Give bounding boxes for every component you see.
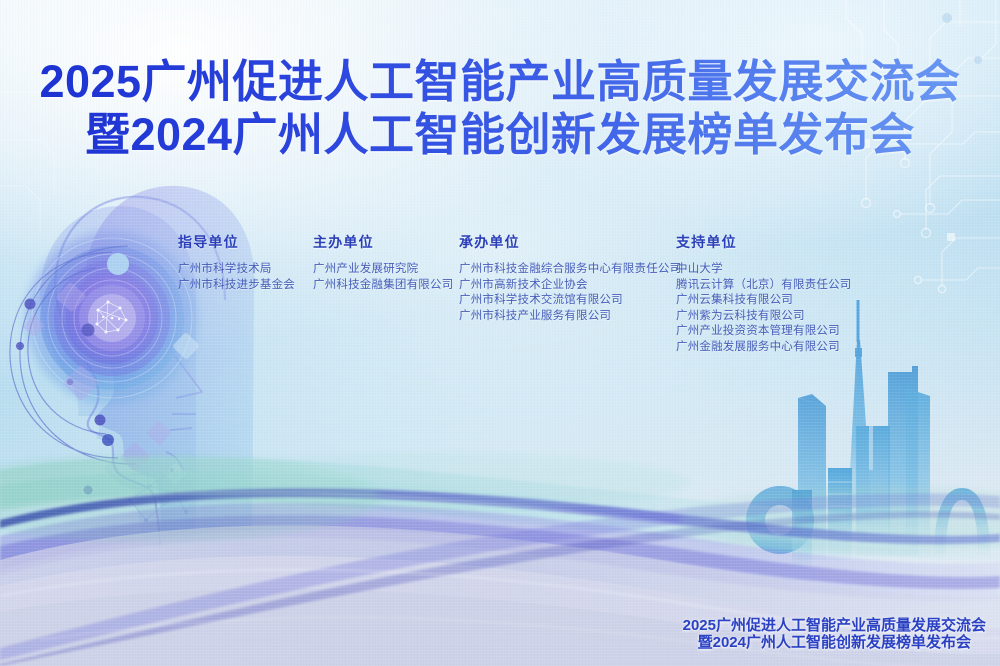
org-column-support: 支持单位 中山大学 腾讯云计算（北京）有限责任公司 广州云集科技有限公司 广州紫… (676, 232, 852, 356)
footer-watermark-line-1: 2025广州促进人工智能产业高质量发展交流会 (683, 617, 986, 635)
organizations-section: 指导单位 广州市科学技术局 广州市科技进步基金会 主办单位 广州产业发展研究院 … (0, 232, 1000, 382)
event-backdrop-screen: 2025广州促进人工智能产业高质量发展交流会 暨2024广州人工智能创新发展榜单… (0, 0, 1000, 666)
org-column-organizer: 承办单位 广州市科技金融综合服务中心有限责任公司 广州市高新技术企业协会 广州市… (459, 232, 681, 324)
org-item: 广州产业发展研究院 (313, 262, 453, 278)
org-heading: 支持单位 (676, 232, 852, 252)
title-line-1: 2025广州促进人工智能产业高质量发展交流会 (0, 58, 1000, 107)
org-column-host: 主办单位 广州产业发展研究院 广州科技金融集团有限公司 (313, 232, 453, 293)
org-item: 广州科技金融集团有限公司 (313, 278, 453, 294)
org-item: 腾讯云计算（北京）有限责任公司 (676, 278, 852, 294)
title-line-2: 暨2024广州人工智能创新发展榜单发布会 (0, 111, 1000, 160)
footer-watermark: 2025广州促进人工智能产业高质量发展交流会 暨2024广州人工智能创新发展榜单… (683, 617, 986, 652)
org-column-guidance: 指导单位 广州市科学技术局 广州市科技进步基金会 (178, 232, 295, 293)
org-item: 广州产业投资资本管理有限公司 (676, 324, 852, 340)
org-item: 中山大学 (676, 262, 852, 278)
org-item: 广州市科技进步基金会 (178, 278, 295, 294)
org-item: 广州紫为云科技有限公司 (676, 309, 852, 325)
org-item: 广州市科学技术交流馆有限公司 (459, 293, 681, 309)
org-heading: 指导单位 (178, 232, 295, 252)
footer-watermark-line-2: 暨2024广州人工智能创新发展榜单发布会 (683, 634, 986, 652)
org-item: 广州金融发展服务中心有限公司 (676, 340, 852, 356)
org-item: 广州市高新技术企业协会 (459, 278, 681, 294)
org-item: 广州市科技金融综合服务中心有限责任公司 (459, 262, 681, 278)
org-item: 广州云集科技有限公司 (676, 293, 852, 309)
org-heading: 承办单位 (459, 232, 681, 252)
org-item: 广州市科学技术局 (178, 262, 295, 278)
org-heading: 主办单位 (313, 232, 453, 252)
event-title: 2025广州促进人工智能产业高质量发展交流会 暨2024广州人工智能创新发展榜单… (0, 58, 1000, 159)
org-item: 广州市科技产业服务有限公司 (459, 309, 681, 325)
